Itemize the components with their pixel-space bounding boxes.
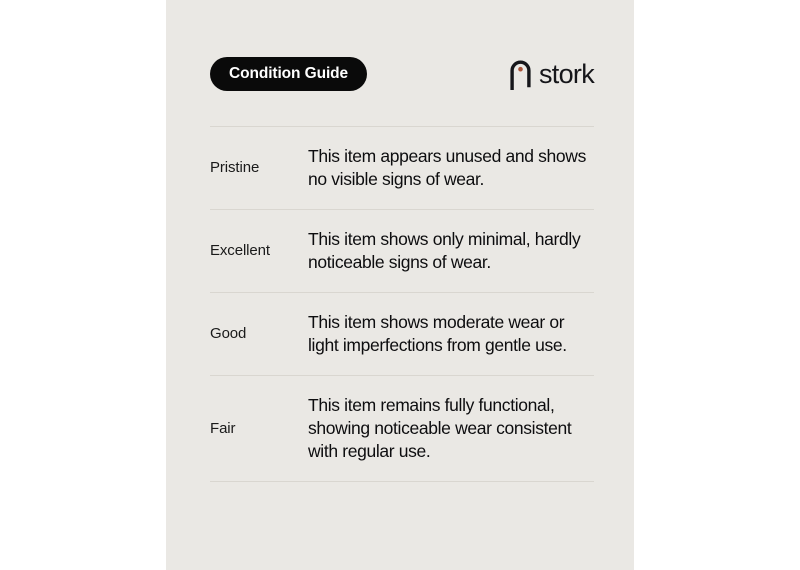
condition-label: Fair — [210, 420, 308, 438]
brand-logo[interactable]: stork — [509, 59, 594, 90]
card-header: Condition Guide stork — [210, 57, 594, 91]
page-root: Condition Guide stork Pristine This item… — [0, 0, 800, 570]
brand-name: stork — [539, 61, 594, 88]
table-row: Good This item shows moderate wear or li… — [210, 293, 594, 375]
condition-guide-pill-label: Condition Guide — [229, 65, 348, 83]
condition-description: This item shows moderate wear or light i… — [308, 311, 594, 357]
condition-description: This item appears unused and shows no vi… — [308, 145, 594, 191]
condition-guide-pill[interactable]: Condition Guide — [210, 57, 367, 91]
condition-guide-table: Pristine This item appears unused and sh… — [210, 126, 594, 482]
condition-description: This item shows only minimal, hardly not… — [308, 228, 594, 274]
table-row: Pristine This item appears unused and sh… — [210, 127, 594, 209]
table-row: Excellent This item shows only minimal, … — [210, 210, 594, 292]
stork-arch-icon — [509, 59, 532, 90]
condition-label: Good — [210, 325, 308, 343]
table-row: Fair This item remains fully functional,… — [210, 376, 594, 481]
condition-label: Pristine — [210, 159, 308, 177]
row-divider — [210, 481, 594, 482]
condition-guide-card: Condition Guide stork Pristine This item… — [166, 0, 634, 570]
condition-description: This item remains fully functional, show… — [308, 394, 594, 463]
condition-label: Excellent — [210, 242, 308, 260]
